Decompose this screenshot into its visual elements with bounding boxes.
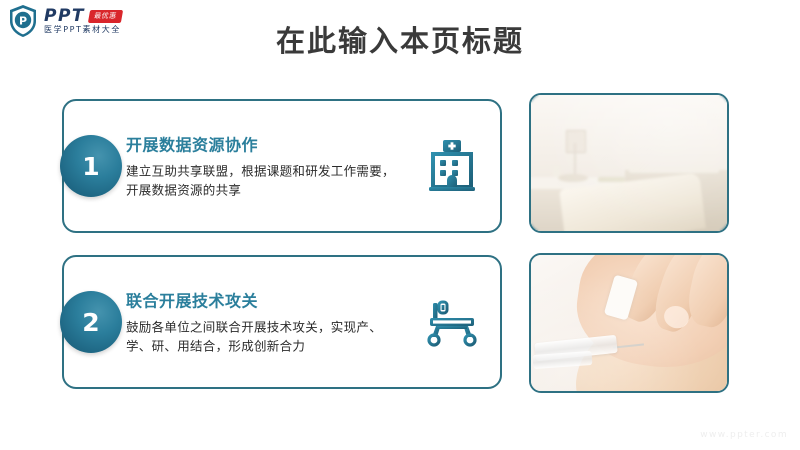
hospital-stretcher-icon [422, 292, 482, 352]
footer-watermark: www.ppter.com [700, 430, 788, 440]
slide: P PPT 最优惠 医学PPT素材大全 在此输入本页标题 1 开展数据资源协作 … [0, 0, 800, 450]
card-text-1: 建立互助共享联盟，根据课题和研发工作需要，开展数据资源的共享 [126, 162, 404, 201]
page-title: 在此输入本页标题 [0, 18, 800, 60]
card-body-1: 开展数据资源协作 建立互助共享联盟，根据课题和研发工作需要，开展数据资源的共享 [126, 132, 404, 201]
injection-photo[interactable] [529, 253, 729, 393]
photo-soft-overlay [531, 95, 727, 231]
step-number-badge-1: 1 [60, 135, 122, 197]
card-text-2: 鼓励各单位之间联合开展技术攻关，实现产、学、研、用结合，形成创新合力 [126, 318, 404, 357]
photo-soft-overlay-2 [531, 255, 727, 391]
content-card-2[interactable]: 2 联合开展技术攻关 鼓励各单位之间联合开展技术攻关，实现产、学、研、用结合，形… [62, 255, 502, 389]
injection-photo-inner [531, 255, 727, 391]
exam-room-photo[interactable] [529, 93, 729, 233]
step-number-badge-2: 2 [60, 291, 122, 353]
content-card-1[interactable]: 1 开展数据资源协作 建立互助共享联盟，根据课题和研发工作需要，开展数据资源的共… [62, 99, 502, 233]
hospital-building-icon [422, 136, 482, 196]
card-heading-1: 开展数据资源协作 [126, 132, 404, 156]
card-body-2: 联合开展技术攻关 鼓励各单位之间联合开展技术攻关，实现产、学、研、用结合，形成创… [126, 288, 404, 357]
exam-room-photo-inner [531, 95, 727, 231]
card-heading-2: 联合开展技术攻关 [126, 288, 404, 312]
